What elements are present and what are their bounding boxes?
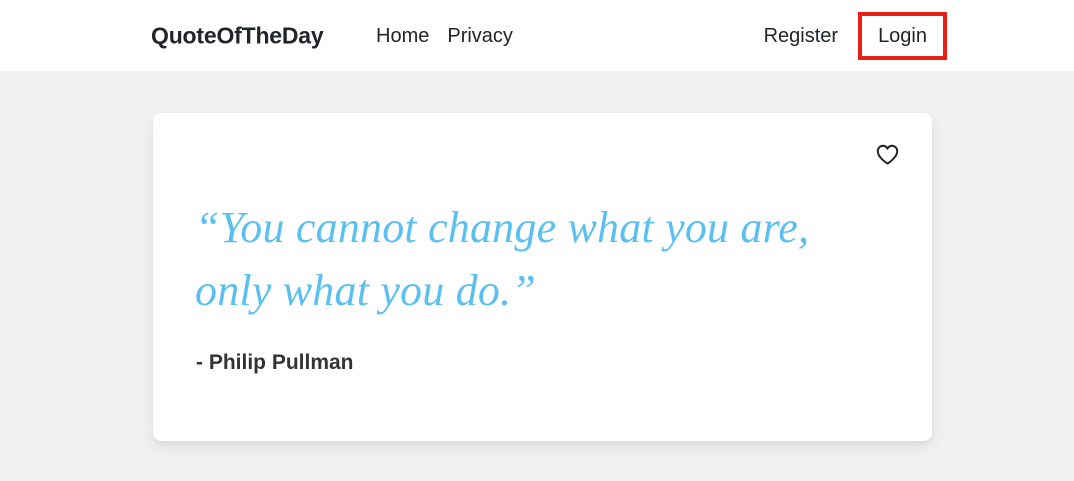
nav-link-register[interactable]: Register xyxy=(764,24,838,48)
quote-card: “You cannot change what you are, only wh… xyxy=(153,113,932,441)
primary-nav: Home Privacy xyxy=(376,24,513,48)
nav-link-privacy[interactable]: Privacy xyxy=(447,24,513,48)
heart-outline-icon xyxy=(876,144,899,165)
quote-author: - Philip Pullman xyxy=(196,351,354,375)
brand-logo[interactable]: QuoteOfTheDay xyxy=(151,22,323,49)
favorite-button[interactable] xyxy=(872,139,902,169)
nav-link-home[interactable]: Home xyxy=(376,24,429,48)
top-navbar: QuoteOfTheDay Home Privacy Register Logi… xyxy=(0,0,1074,71)
quote-text: “You cannot change what you are, only wh… xyxy=(195,196,875,322)
nav-link-login[interactable]: Login xyxy=(878,24,927,48)
navbar-inner: QuoteOfTheDay Home Privacy Register Logi… xyxy=(0,0,1074,71)
main-content: “You cannot change what you are, only wh… xyxy=(0,71,1074,481)
auth-nav: Register Login xyxy=(764,12,947,60)
login-highlight-box: Login xyxy=(858,12,947,60)
